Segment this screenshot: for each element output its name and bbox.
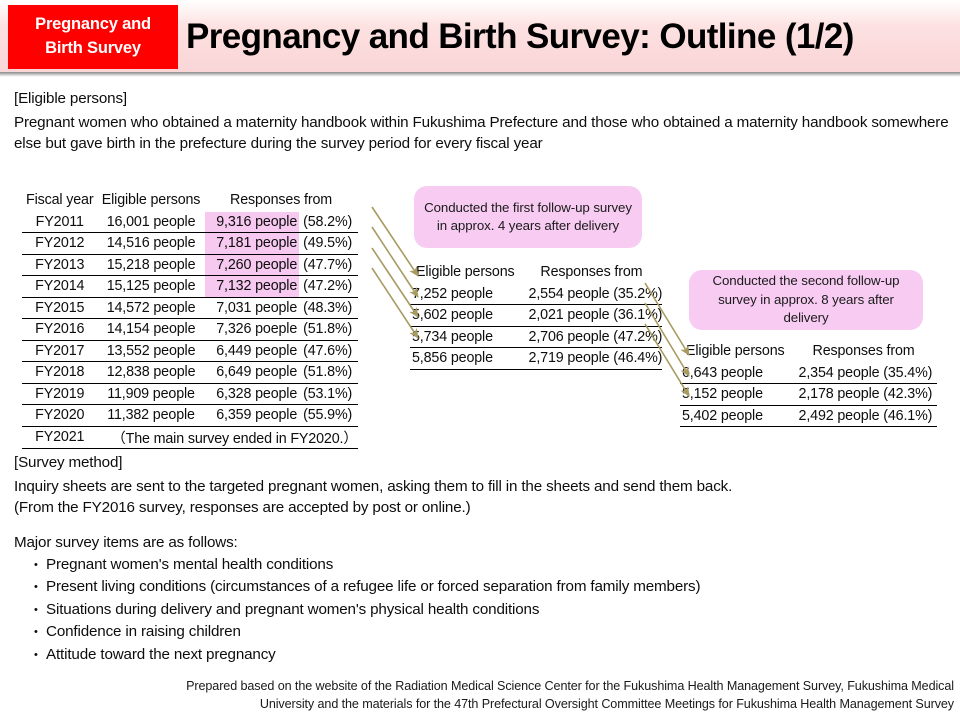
source-footnote-line-2: University and the materials for the 47t…	[14, 696, 954, 714]
table-header-row: Eligible persons Responses from	[410, 262, 662, 284]
follow-up-1-body: 7,252 people2,554 people (35.2%)5,602 pe…	[410, 284, 662, 370]
table-row: FY201116,001 people9,316 people(58.2%)	[22, 212, 358, 233]
cell-fiscal-year: FY2013	[22, 254, 97, 276]
survey-method-body: Inquiry sheets are sent to the targeted …	[14, 476, 944, 518]
table-row: FY201812,838 people6,649 people(51.8%)	[22, 362, 358, 384]
cell-responses-from: 2,554 people (35.2%)	[521, 284, 663, 305]
follow-up-2-body: 6,643 people2,354 people (35.4%)5,152 pe…	[680, 363, 937, 427]
list-item: Present living conditions (circumstances…	[34, 576, 700, 598]
cell-response-rate: (51.8%)	[299, 319, 357, 341]
table-row: FY201911,909 people6,328 people(53.1%)	[22, 383, 358, 405]
column-header-responses-from: Responses from	[791, 341, 937, 363]
list-item: Attitude toward the next pregnancy	[34, 644, 700, 666]
cell-eligible-persons: 11,382 people	[97, 405, 204, 427]
table-header-row: Fiscal year Eligible persons Responses f…	[22, 190, 358, 212]
cell-eligible-persons: 12,838 people	[97, 362, 204, 384]
cell-response-rate: (47.2%)	[299, 276, 357, 298]
cell-eligible-persons: 7,252 people	[410, 284, 521, 305]
cell-fiscal-year: FY2017	[22, 340, 97, 362]
first-follow-up-table: Eligible persons Responses from 7,252 pe…	[410, 262, 662, 370]
table-row: FY201514,572 people7,031 people(48.3%)	[22, 297, 358, 319]
survey-method-line-1: Inquiry sheets are sent to the targeted …	[14, 476, 944, 497]
page-title: Pregnancy and Birth Survey: Outline (1/2…	[186, 7, 954, 67]
cell-fiscal-year: FY2019	[22, 383, 97, 405]
cell-responses-count: 9,316 people	[205, 212, 300, 233]
column-header-responses-from: Responses from	[205, 190, 358, 212]
cell-fiscal-year: FY2020	[22, 405, 97, 427]
table-row: 5,602 people2,021 people (36.1%)	[410, 305, 662, 327]
cell-eligible-persons: 13,552 people	[97, 340, 204, 362]
cell-fiscal-year: FY2016	[22, 319, 97, 341]
cell-survey-ended-note: （The main survey ended in FY2020.）	[97, 426, 357, 448]
column-header-eligible-persons: Eligible persons	[97, 190, 204, 212]
callout-second-follow-up: Conducted the second follow-up survey in…	[689, 270, 923, 330]
cell-fiscal-year: FY2011	[22, 212, 97, 233]
cell-eligible-persons: 5,734 people	[410, 326, 521, 348]
table-header-row: Eligible persons Responses from	[680, 341, 937, 363]
table-row: FY201415,125 people7,132 people(47.2%)	[22, 276, 358, 298]
cell-response-rate: (51.8%)	[299, 362, 357, 384]
list-item-label: Confidence in raising children	[46, 623, 241, 640]
table-row: 7,252 people2,554 people (35.2%)	[410, 284, 662, 305]
list-item-label: Present living conditions (circumstances…	[46, 578, 700, 595]
cell-response-rate: (58.2%)	[299, 212, 357, 233]
survey-badge: Pregnancy and Birth Survey	[8, 5, 178, 69]
cell-eligible-persons: 14,572 people	[97, 297, 204, 319]
table-row: FY2021（The main survey ended in FY2020.）	[22, 426, 358, 448]
column-header-responses-from: Responses from	[521, 262, 663, 284]
cell-responses-count: 7,326 poeple	[205, 319, 300, 341]
eligible-persons-heading: [Eligible persons]	[14, 88, 127, 109]
cell-fiscal-year: FY2014	[22, 276, 97, 298]
survey-badge-line-1: Pregnancy and	[35, 13, 151, 37]
survey-badge-line-2: Birth Survey	[45, 37, 141, 61]
table-row: FY201214,516 people7,181 people(49.5%)	[22, 233, 358, 255]
cell-responses-from: 2,706 people (47.2%)	[521, 326, 663, 348]
cell-responses-from: 2,492 people (46.1%)	[791, 405, 937, 427]
cell-eligible-persons: 14,154 people	[97, 319, 204, 341]
survey-items-lead: Major survey items are as follows:	[14, 532, 238, 553]
cell-eligible-persons: 16,001 people	[97, 212, 204, 233]
main-table-body: FY201116,001 people9,316 people(58.2%)FY…	[22, 212, 358, 449]
cell-fiscal-year: FY2012	[22, 233, 97, 255]
cell-responses-count: 6,449 people	[205, 340, 300, 362]
cell-responses-from: 2,354 people (35.4%)	[791, 363, 937, 384]
cell-responses-from: 2,719 people (46.4%)	[521, 348, 663, 370]
cell-fiscal-year: FY2021	[22, 426, 97, 448]
cell-response-rate: (47.7%)	[299, 254, 357, 276]
list-item-label: Situations during delivery and pregnant …	[46, 601, 539, 618]
cell-eligible-persons: 14,516 people	[97, 233, 204, 255]
cell-responses-count: 7,132 people	[205, 276, 300, 298]
list-item-label: Pregnant women's mental health condition…	[46, 556, 333, 573]
table-row: 5,402 people2,492 people (46.1%)	[680, 405, 937, 427]
column-header-eligible-persons: Eligible persons	[410, 262, 521, 284]
main-survey-table: Fiscal year Eligible persons Responses f…	[22, 190, 358, 449]
table-row: 5,734 people2,706 people (47.2%)	[410, 326, 662, 348]
cell-fiscal-year: FY2018	[22, 362, 97, 384]
list-item: Situations during delivery and pregnant …	[34, 599, 700, 621]
second-follow-up-table: Eligible persons Responses from 6,643 pe…	[680, 341, 937, 427]
cell-response-rate: (53.1%)	[299, 383, 357, 405]
follow-up-2-header: Eligible persons Responses from	[680, 341, 937, 363]
cell-eligible-persons: 15,125 people	[97, 276, 204, 298]
table-row: FY201713,552 people6,449 people(47.6%)	[22, 340, 358, 362]
table-row: 5,152 people2,178 people (42.3%)	[680, 384, 937, 406]
column-header-eligible-persons: Eligible persons	[680, 341, 791, 363]
header-shadow-divider	[0, 72, 960, 77]
source-footnote-line-1: Prepared based on the website of the Rad…	[14, 678, 954, 696]
cell-response-rate: (49.5%)	[299, 233, 357, 255]
follow-up-1-header: Eligible persons Responses from	[410, 262, 662, 284]
survey-method-line-2: (From the FY2016 survey, responses are a…	[14, 497, 944, 518]
table-row: FY201614,154 people7,326 poeple(51.8%)	[22, 319, 358, 341]
callout-first-follow-up: Conducted the first follow-up survey in …	[414, 186, 642, 248]
cell-responses-count: 6,359 people	[205, 405, 300, 427]
table-row: FY202011,382 people6,359 people(55.9%)	[22, 405, 358, 427]
cell-eligible-persons: 11,909 people	[97, 383, 204, 405]
cell-eligible-persons: 15,218 people	[97, 254, 204, 276]
table-row: 5,856 people2,719 people (46.4%)	[410, 348, 662, 370]
cell-eligible-persons: 5,856 people	[410, 348, 521, 370]
cell-responses-count: 6,649 people	[205, 362, 300, 384]
cell-fiscal-year: FY2015	[22, 297, 97, 319]
list-item-label: Attitude toward the next pregnancy	[46, 646, 276, 663]
list-item: Pregnant women's mental health condition…	[34, 554, 700, 576]
cell-eligible-persons: 5,152 people	[680, 384, 791, 406]
cell-response-rate: (55.9%)	[299, 405, 357, 427]
main-table-header: Fiscal year Eligible persons Responses f…	[22, 190, 358, 212]
cell-responses-count: 7,181 people	[205, 233, 300, 255]
column-header-fiscal-year: Fiscal year	[22, 190, 97, 212]
survey-method-heading: [Survey method]	[14, 452, 122, 473]
source-footnote: Prepared based on the website of the Rad…	[14, 678, 954, 713]
cell-eligible-persons: 5,402 people	[680, 405, 791, 427]
survey-items-list: Pregnant women's mental health condition…	[34, 554, 700, 666]
eligible-persons-body: Pregnant women who obtained a maternity …	[14, 112, 952, 154]
cell-eligible-persons: 5,602 people	[410, 305, 521, 327]
table-row: FY201315,218 people7,260 people(47.7%)	[22, 254, 358, 276]
cell-responses-count: 7,031 people	[205, 297, 300, 319]
cell-response-rate: (47.6%)	[299, 340, 357, 362]
cell-responses-from: 2,021 people (36.1%)	[521, 305, 663, 327]
list-item: Confidence in raising children	[34, 621, 700, 643]
cell-eligible-persons: 6,643 people	[680, 363, 791, 384]
cell-responses-count: 7,260 people	[205, 254, 300, 276]
table-row: 6,643 people2,354 people (35.4%)	[680, 363, 937, 384]
cell-responses-from: 2,178 people (42.3%)	[791, 384, 937, 406]
cell-responses-count: 6,328 people	[205, 383, 300, 405]
cell-response-rate: (48.3%)	[299, 297, 357, 319]
